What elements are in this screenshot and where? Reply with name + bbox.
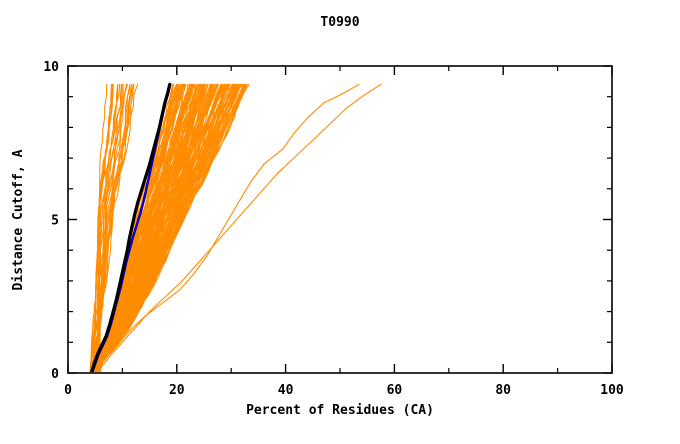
y-axis-label: Distance Cutoff, A (11, 149, 26, 290)
x-tick-label: 60 (387, 383, 403, 398)
x-tick-label: 40 (278, 383, 294, 398)
x-axis-label: Percent of Residues (CA) (246, 403, 434, 418)
x-tick-label: 100 (600, 383, 624, 398)
gdt-plot-figure: T0990 020406080100 0510 Percent of Resid… (0, 0, 680, 440)
y-tick-label: 10 (43, 60, 59, 75)
y-tick-label: 0 (51, 367, 59, 382)
chart-svg: T0990 020406080100 0510 Percent of Resid… (0, 0, 680, 440)
chart-title: T0990 (320, 15, 359, 30)
x-tick-label: 0 (64, 383, 72, 398)
x-tick-label: 20 (169, 383, 185, 398)
y-tick-label: 5 (51, 214, 59, 229)
x-tick-label: 80 (495, 383, 511, 398)
